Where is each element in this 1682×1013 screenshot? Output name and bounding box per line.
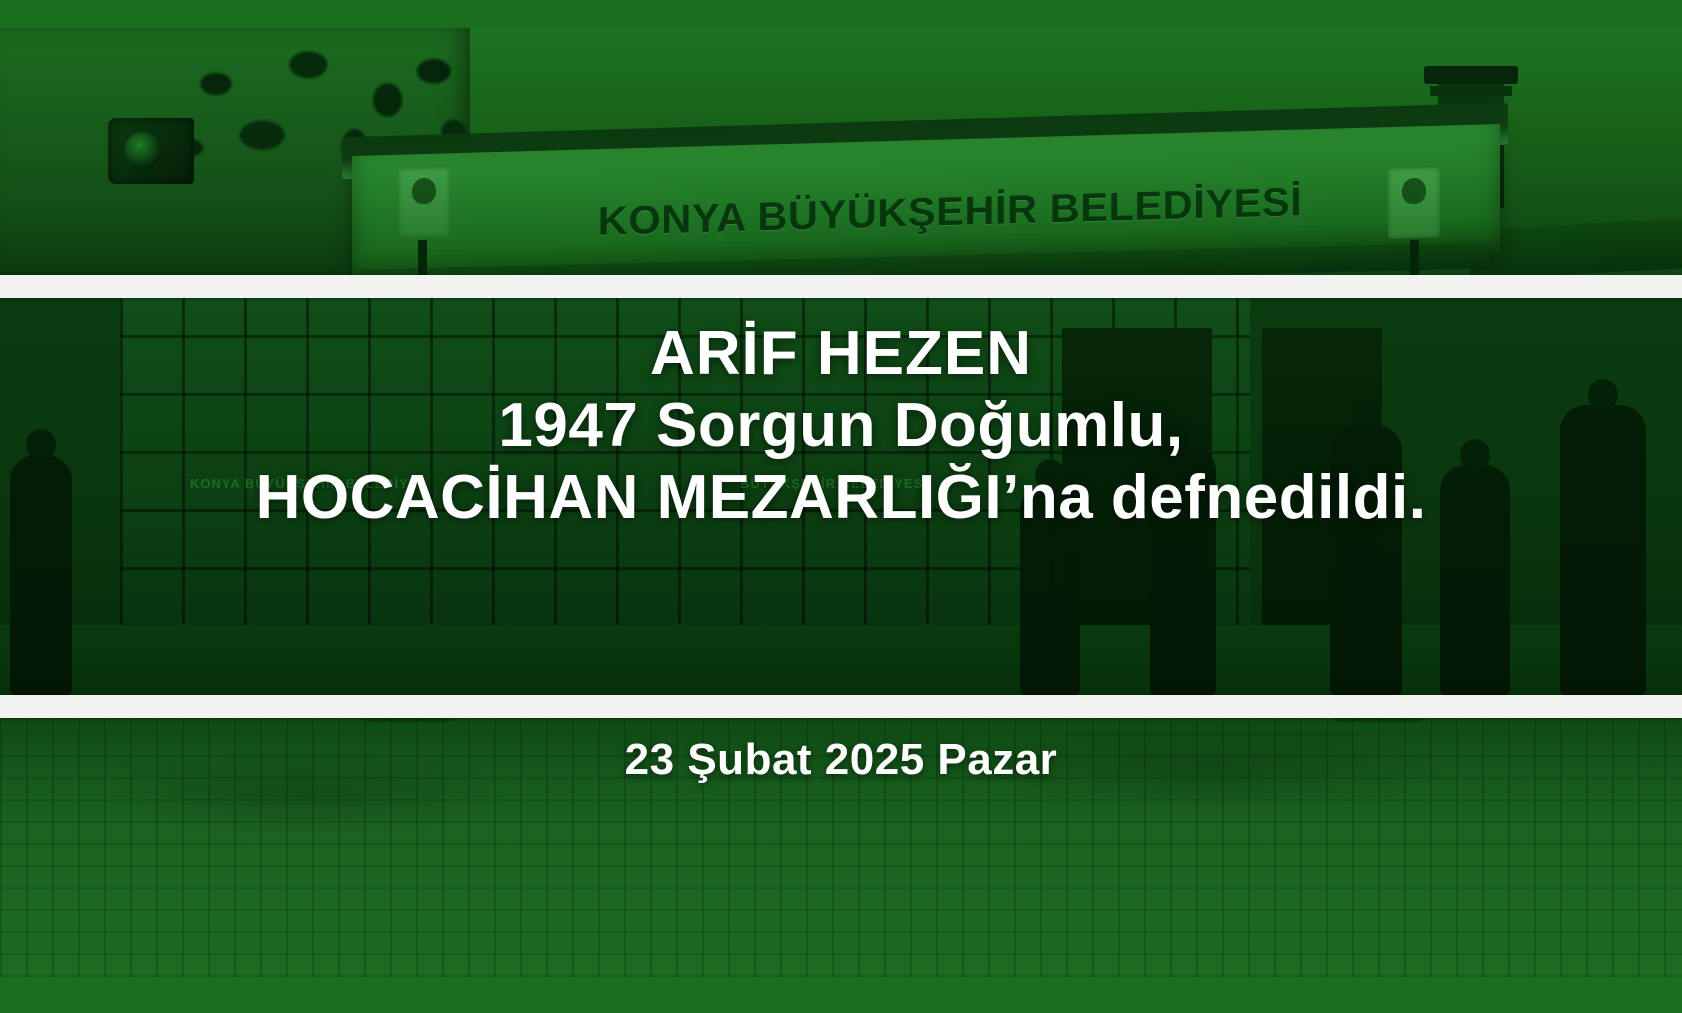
photo-band-hearse: KONYA BÜYÜKŞEHİR BELEDİYESİ bbox=[0, 28, 1682, 275]
divider-top bbox=[0, 275, 1682, 298]
brand-strip-top bbox=[0, 0, 1682, 28]
hearse-wheel-right bbox=[1330, 718, 1426, 722]
stand-post-left bbox=[418, 240, 427, 275]
birth-info: 1947 Sorgun Doğumlu, bbox=[26, 390, 1656, 462]
announcement-headline: ARİF HEZEN 1947 Sorgun Doğumlu, HOCACİHA… bbox=[0, 318, 1682, 534]
municipality-emblem-right bbox=[1388, 167, 1440, 238]
municipality-emblem-left bbox=[398, 167, 450, 238]
hearse-wheel-left bbox=[360, 718, 456, 722]
burial-info: HOCACİHAN MEZARLIĞI’na defnedildi. bbox=[26, 462, 1656, 534]
ground-edge bbox=[1470, 218, 1682, 275]
divider-bottom bbox=[0, 695, 1682, 718]
deceased-name: ARİF HEZEN bbox=[26, 318, 1656, 390]
brand-strip-bottom bbox=[0, 977, 1682, 1013]
stand-post-right bbox=[1410, 240, 1419, 275]
floor-shadow bbox=[0, 625, 1682, 695]
announcement-date: 23 Şubat 2025 Pazar bbox=[0, 735, 1682, 785]
loudspeaker-icon bbox=[108, 118, 194, 184]
obituary-announcement-card: KONYA BÜYÜKŞEHİR BELEDİYESİ KONYA BÜYÜKŞ… bbox=[0, 0, 1682, 1013]
